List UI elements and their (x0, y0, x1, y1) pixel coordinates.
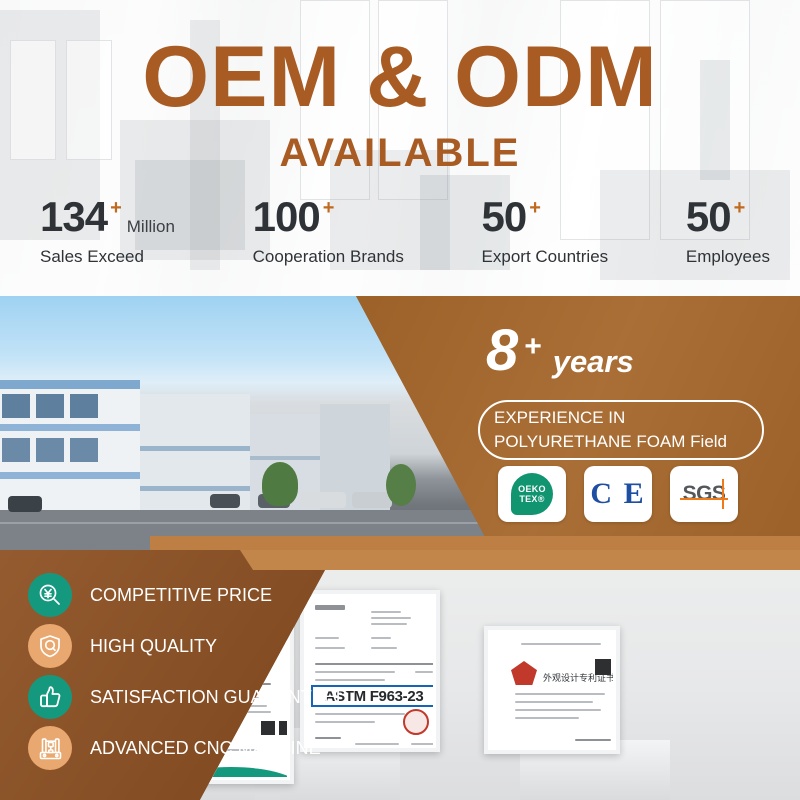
shield-quality-icon (28, 624, 72, 668)
feature-label: HIGH QUALITY (90, 636, 217, 656)
stat-label: Employees (686, 247, 770, 266)
feature-label: ADVANCED CNC MACHINE (90, 738, 321, 758)
yen-magnifier-icon (28, 573, 72, 617)
feature-item-satisfaction-guaranteed: SATISFACTION GUARANTEED (28, 672, 358, 722)
stat-item-employees: 50 + Employees (686, 196, 770, 266)
stat-item-export-countries: 50 + Export Countries (482, 196, 609, 266)
header-section: OEM & ODM AVAILABLE 134 + Million Sales … (0, 0, 800, 296)
stat-unit: Million (127, 217, 175, 237)
experience-line-2: POLYURETHANE FOAM Field (494, 430, 762, 454)
plus-icon: + (734, 198, 746, 218)
stat-number: 100 (253, 196, 320, 238)
oeko-tex-icon: OEKO TEX® (511, 473, 553, 515)
sgs-vertical-rule (722, 479, 724, 509)
stat-label: Cooperation Brands (253, 247, 404, 266)
thumbs-up-icon (28, 675, 72, 719)
feature-item-advanced-cnc-machine: ADVANCED CNC MACHINE (28, 723, 358, 773)
stat-number: 50 (482, 196, 527, 238)
stats-row: 134 + Million Sales Exceed 100 + Coopera… (40, 196, 770, 266)
sgs-icon: SGS (680, 479, 728, 509)
certification-badges: OEKO TEX® C E SGS (498, 466, 738, 522)
stat-item-sales-exceed: 134 + Million Sales Exceed (40, 196, 175, 266)
bottom-section: CERTIFICATE (0, 550, 800, 800)
promo-infographic: OEM & ODM AVAILABLE 134 + Million Sales … (0, 0, 800, 800)
stat-item-cooperation-brands: 100 + Cooperation Brands (253, 196, 404, 266)
ce-mark-icon: C E (590, 477, 645, 511)
cnc-machine-icon (28, 726, 72, 770)
badge-oeko-tex: OEKO TEX® (498, 466, 566, 522)
features-list: COMPETITIVE PRICE HIGH QUALITY (28, 570, 358, 774)
badge-sgs: SGS (670, 466, 738, 522)
plus-icon: + (529, 198, 541, 218)
red-seal-stamp (403, 709, 429, 735)
stat-label: Export Countries (482, 247, 609, 266)
sgs-label: SGS (683, 482, 726, 506)
certificate-frame-5: 外观设计专利证书 (484, 626, 620, 754)
plus-icon: + (110, 198, 122, 218)
page-subtitle: AVAILABLE (0, 132, 800, 174)
years-experience-headline: 8 + years (486, 322, 634, 380)
feature-label: SATISFACTION GUARANTEED (90, 687, 349, 707)
plus-icon: + (323, 198, 335, 218)
feature-item-competitive-price: COMPETITIVE PRICE (28, 570, 358, 620)
plus-icon: + (524, 332, 542, 362)
oeko-line-1: OEKO (518, 484, 546, 494)
stat-number: 50 (686, 196, 731, 238)
stat-label: Sales Exceed (40, 247, 175, 266)
stat-number: 134 (40, 196, 107, 238)
years-label: years (553, 346, 634, 377)
experience-line-1: EXPERIENCE IN (494, 406, 762, 430)
experience-pill: EXPERIENCE IN POLYURETHANE FOAM Field (478, 400, 764, 460)
sgs-horizontal-rule (680, 498, 728, 500)
years-number: 8 (486, 322, 518, 380)
feature-item-high-quality: HIGH QUALITY (28, 621, 358, 671)
oeko-line-2: TEX® (519, 494, 544, 504)
feature-label: COMPETITIVE PRICE (90, 585, 272, 605)
page-title: OEM & ODM (0, 34, 800, 120)
badge-ce: C E (584, 466, 652, 522)
patent-title-cn: 外观设计专利证书 (543, 671, 613, 684)
